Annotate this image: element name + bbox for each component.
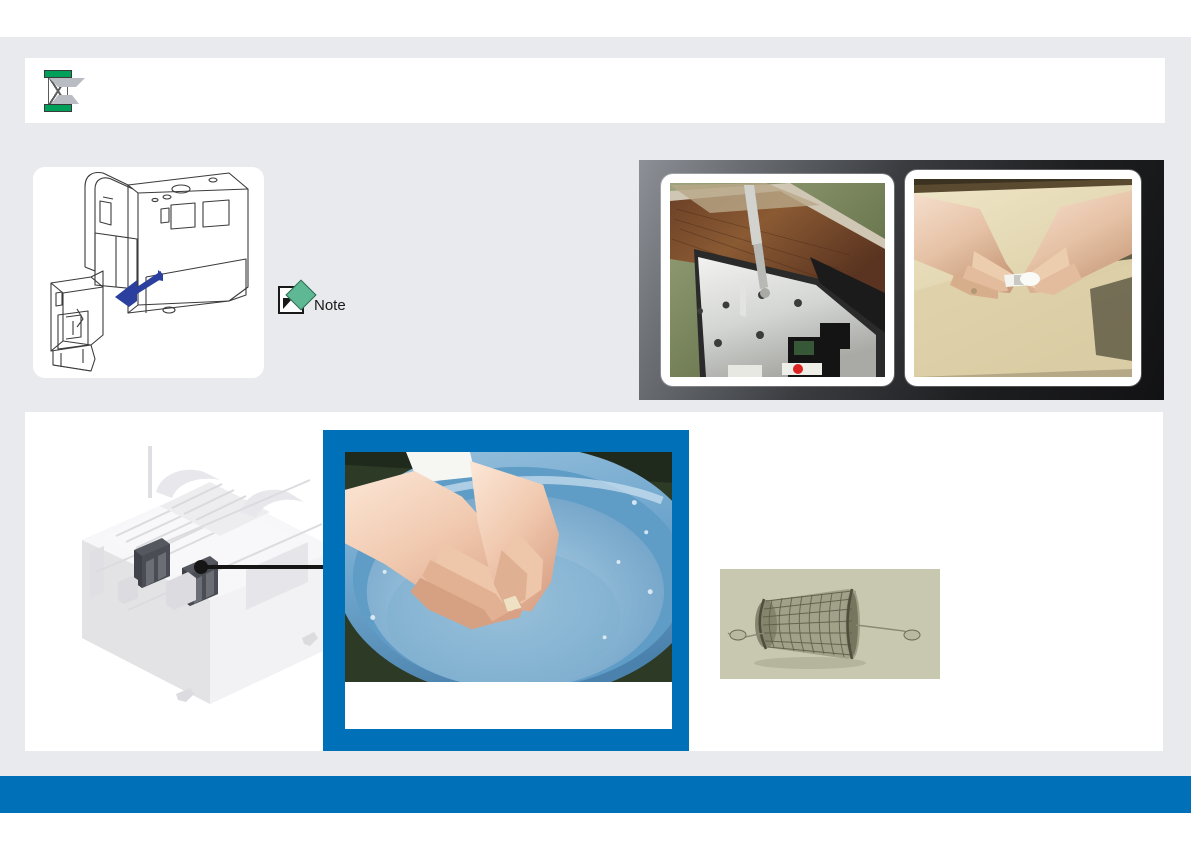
photo-hands-with-part-frame [905,170,1141,386]
photo-hands-washing-part-in-basin [345,452,672,682]
hourglass-icon [42,70,74,112]
document-page: Note [0,0,1191,842]
machine-module-removal-diagram [33,167,264,378]
photo-hands-with-part-image [914,179,1132,377]
photo-hands-washing-part-frame [323,430,689,751]
machine-isometric-diagram [60,432,360,732]
photo-basin-image [345,452,672,682]
photo-wire-mesh-basket [720,569,940,679]
note-marker-1: Note [278,284,398,320]
top-banner [25,58,1165,123]
photo-panel [639,160,1164,400]
lower-content-card [25,412,1163,751]
photo-basket-image [720,569,940,679]
photo-hands-with-part [914,179,1132,377]
hourglass-cap-bottom [44,104,72,112]
note-label: Note [314,297,346,314]
direction-arrow [115,270,163,307]
photo-machine-plate [670,183,885,377]
hourglass-sand-bottom [51,95,79,104]
photo-hands-washing-part-inner [345,452,672,729]
machine-isometric-svg [60,432,360,732]
photo-machine-plate-frame [661,174,894,386]
hourglass-cap-top [44,70,72,78]
bottom-bar [0,776,1191,813]
module-removal-svg [33,167,264,378]
hourglass-sand-top [49,78,85,87]
photo-hands-washing-part-caption [345,682,672,729]
photo-machine-plate-image [670,183,885,377]
